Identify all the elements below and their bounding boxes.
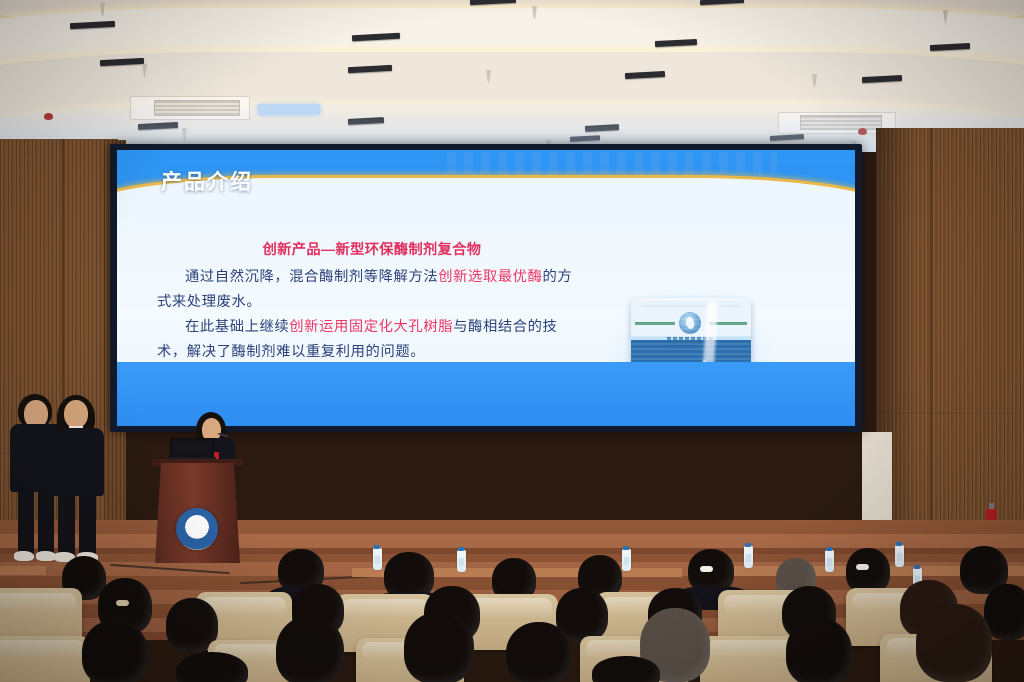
person-leg bbox=[18, 488, 34, 556]
audience-head bbox=[82, 620, 148, 682]
person-leg bbox=[79, 492, 96, 558]
wall-seam bbox=[930, 128, 932, 558]
bottle-cap bbox=[826, 547, 832, 551]
audience-head bbox=[916, 604, 992, 682]
audience-seat bbox=[0, 636, 90, 682]
hair-clip bbox=[700, 566, 713, 572]
laptop-screen bbox=[170, 438, 214, 458]
paragraph-1-segment-1: 通过自然沉降，混合酶制剂等降解方法 bbox=[185, 269, 438, 285]
audience-head bbox=[404, 612, 474, 682]
paragraph-2-highlight: 创新运用固定化大孔树脂 bbox=[289, 319, 453, 335]
paragraph-1-highlight: 创新选取最优酶 bbox=[438, 269, 542, 285]
audience-head bbox=[786, 618, 852, 682]
audience-head bbox=[276, 616, 344, 682]
slide-paragraph-1: 通过自然沉降，混合酶制剂等降解方法创新选取最优酶的方式来处理废水。 bbox=[157, 265, 587, 315]
audience-head bbox=[176, 652, 248, 682]
slide-title: 产品介绍 bbox=[161, 166, 253, 196]
water-bottle bbox=[895, 545, 904, 567]
water-bottle bbox=[825, 550, 834, 572]
bottle-cap bbox=[623, 546, 629, 550]
hair-clip bbox=[856, 564, 869, 570]
paragraph-2-segment-1: 在此基础上继续 bbox=[185, 319, 289, 335]
bottle-cap bbox=[374, 545, 380, 549]
water-bottle bbox=[457, 550, 466, 572]
slide-text-block: 创新产品—新型环保酶制剂复合物 通过自然沉降，混合酶制剂等降解方法创新选取最优酶… bbox=[157, 238, 587, 365]
wall-strip-right bbox=[862, 432, 892, 528]
bottle-cap bbox=[896, 542, 902, 546]
person-head bbox=[64, 400, 88, 428]
water-bottle bbox=[744, 546, 753, 568]
hair-clip bbox=[116, 600, 129, 606]
slide-header-texture bbox=[447, 152, 777, 174]
bottle-cap bbox=[914, 565, 920, 569]
slide-paragraph-2: 在此基础上继续创新运用固定化大孔树脂与酶相结合的技术，解决了酶制剂难以重复利用的… bbox=[157, 315, 587, 365]
audience-head bbox=[506, 622, 572, 682]
presentation-slide: 产品介绍 创新产品—新型环保酶制剂复合物 通过自然沉降，混合酶制剂等降解方法创新… bbox=[117, 150, 855, 426]
bottle-cap bbox=[745, 543, 751, 547]
seat-ledge bbox=[0, 566, 46, 575]
water-bottle bbox=[622, 549, 631, 571]
water-bottle bbox=[373, 548, 382, 570]
slide-footer-band bbox=[117, 362, 855, 426]
person-shoe bbox=[36, 551, 56, 561]
person-leg bbox=[38, 488, 54, 556]
slide-headline: 创新产品—新型环保酶制剂复合物 bbox=[157, 238, 587, 263]
bottle-cap bbox=[458, 547, 464, 551]
ceiling bbox=[0, 0, 1024, 152]
person-torso bbox=[50, 428, 104, 496]
person-leg bbox=[58, 492, 75, 558]
auditorium-photo: 产品介绍 创新产品—新型环保酶制剂复合物 通过自然沉降，混合酶制剂等降解方法创新… bbox=[0, 0, 1024, 682]
person-shoe bbox=[14, 551, 34, 561]
audience-head bbox=[592, 656, 660, 682]
podium-emblem-icon bbox=[176, 508, 218, 550]
